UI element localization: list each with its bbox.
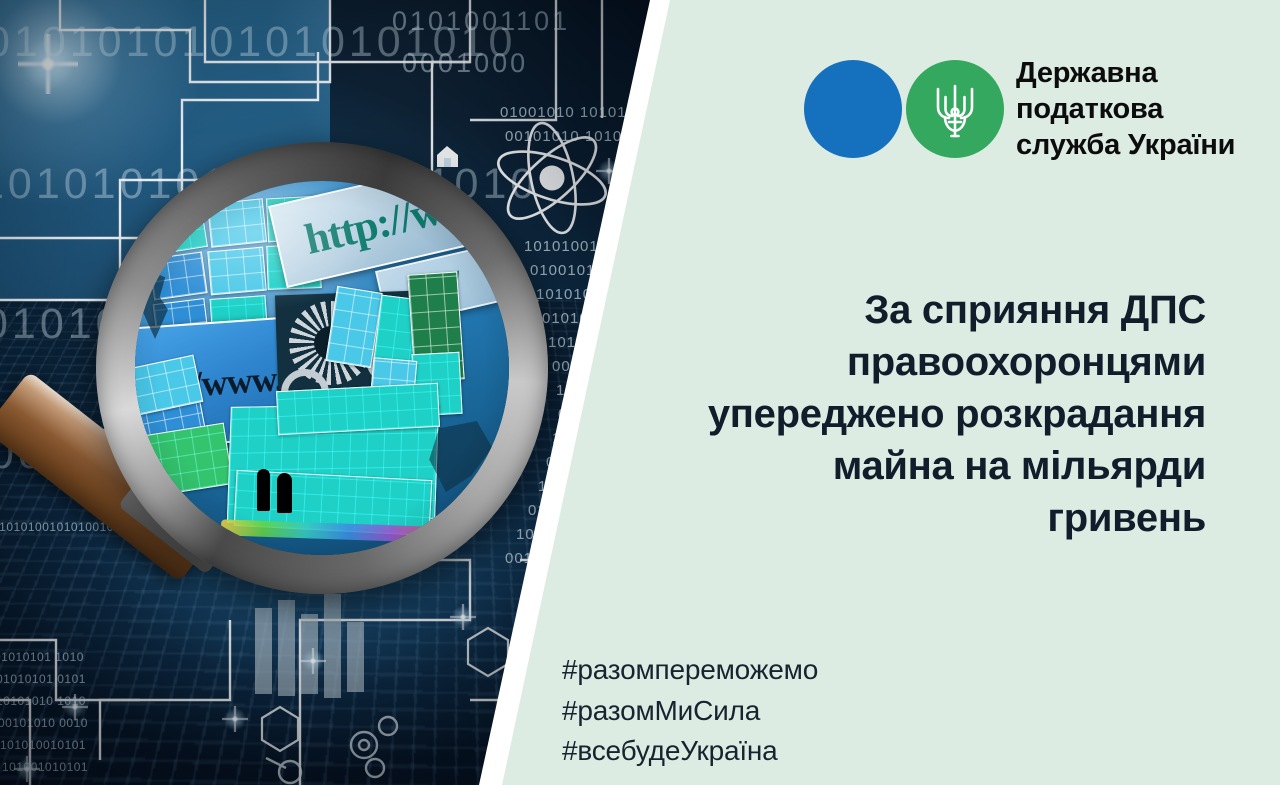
logo-text: Державна податкова служба України [1016, 56, 1235, 164]
person-silhouette-icon [257, 469, 270, 511]
logo-text-line-2: податкова [1016, 92, 1235, 128]
poster-canvas: 0101010101010101010 10101010101010101010… [0, 0, 1280, 785]
hashtag-item-1[interactable]: #разомпереможемо [562, 650, 818, 691]
globe-tile-field: http://w p:// p://www... [135, 181, 509, 555]
headline-line-2: правоохоронцями [610, 336, 1206, 388]
magnifier-lens: http://w p:// p://www... [135, 181, 509, 555]
internet-globe-icon: http://w p:// p://www... [135, 181, 509, 555]
magnifier-ring: http://w p:// p://www... [96, 142, 548, 594]
headline-line-3: упереджено розкрадання [610, 388, 1206, 440]
logo-text-line-3: служба України [1016, 128, 1235, 164]
headline-line-4: майна на мільярди [610, 440, 1206, 492]
logo-marks [804, 56, 1000, 164]
hashtag-item-3[interactable]: #всебудеУкраїна [562, 731, 818, 772]
logo-text-line-1: Державна [1016, 56, 1235, 92]
hashtag-list: #разомпереможемо #разомМиСила #всебудеУк… [562, 650, 818, 772]
person-silhouette-icon-2 [277, 473, 292, 513]
ukraine-trident-icon [932, 82, 978, 140]
headline: За сприяння ДПС правоохоронцями упередже… [610, 284, 1206, 544]
dps-logo[interactable]: Державна податкова служба України [804, 56, 1235, 164]
hashtag-item-2[interactable]: #разомМиСила [562, 691, 818, 732]
blue-circle-icon [804, 60, 902, 158]
headline-line-5: гривень [610, 492, 1206, 544]
headline-line-1: За сприяння ДПС [610, 284, 1206, 336]
